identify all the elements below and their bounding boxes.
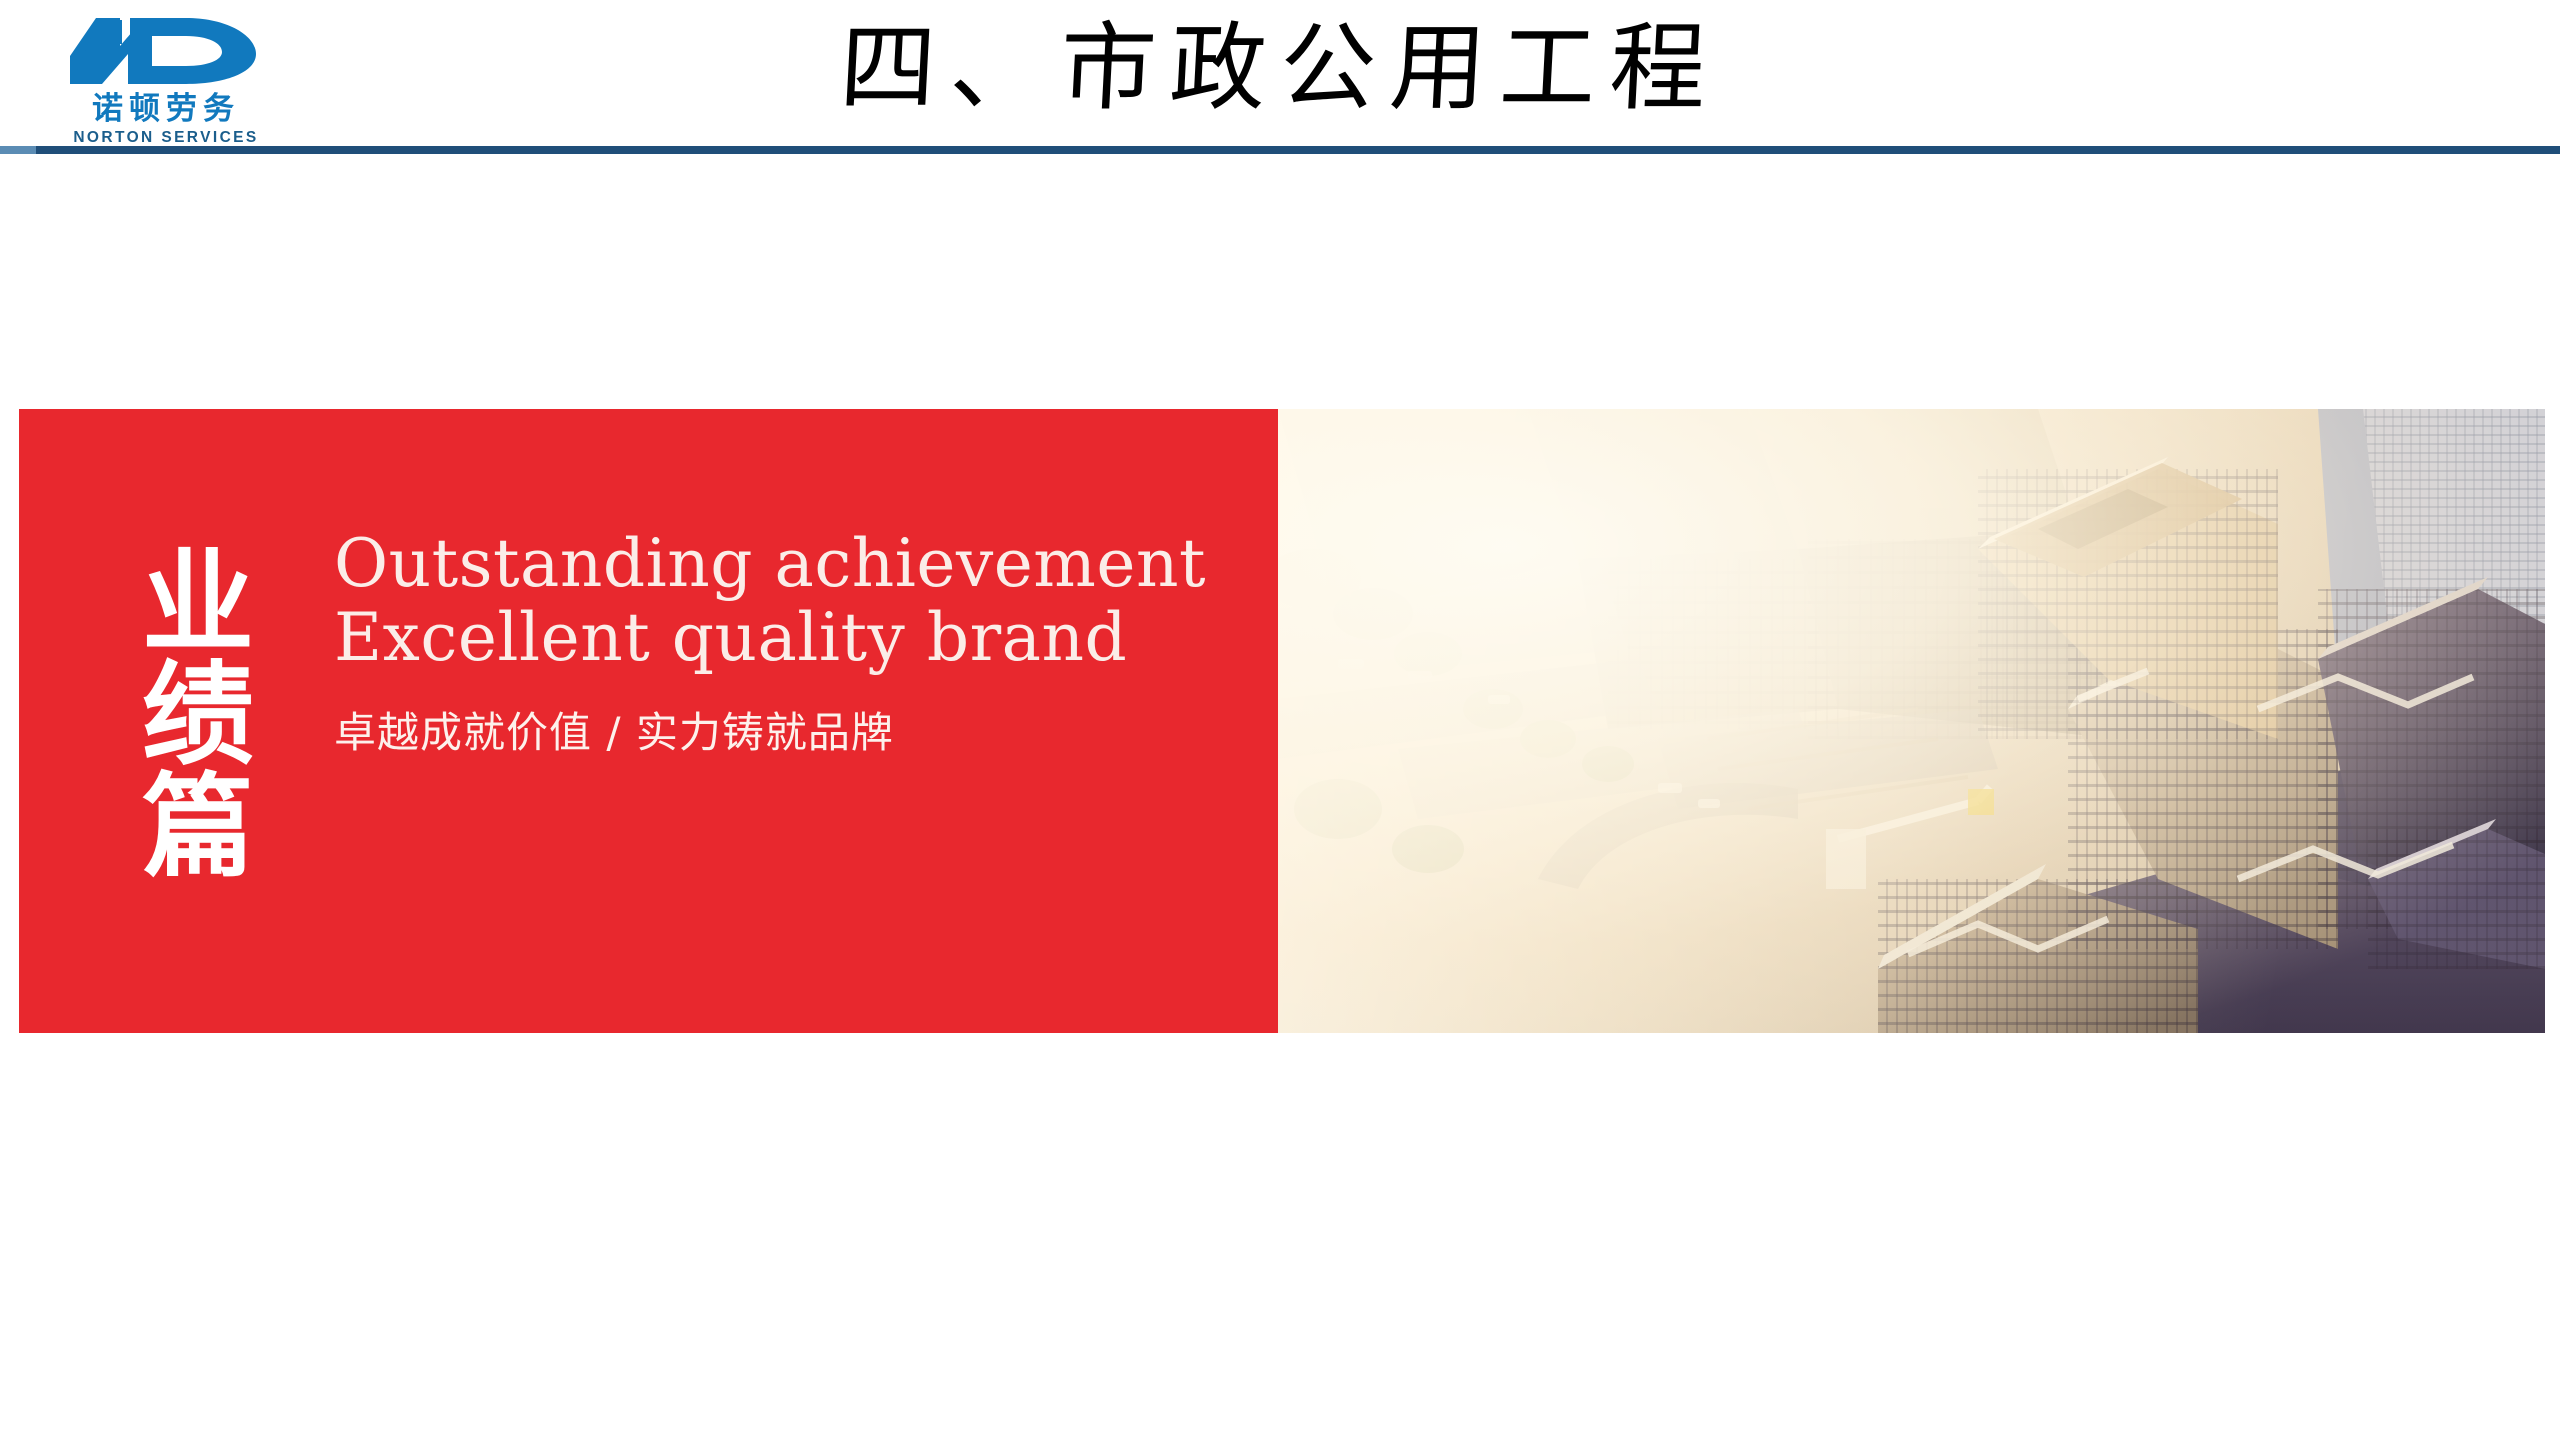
logo-company-name-en: NORTON SERVICES — [64, 130, 268, 146]
construction-photo — [1278, 409, 2545, 1033]
banner-english-line-2: Excellent quality brand — [334, 601, 1234, 675]
banner-vertical-headline: 业绩篇 — [137, 461, 263, 961]
banner-english-line-1: Outstanding achievement — [334, 527, 1234, 601]
banner-chinese-tagline: 卓越成就价值 / 实力铸就品牌 — [334, 707, 1234, 759]
achievement-banner: 业绩篇 Outstanding achievement Excellent qu… — [19, 409, 2545, 1033]
banner-copy-block: Outstanding achievement Excellent qualit… — [334, 527, 1234, 759]
page-title: 四、市政公用工程 — [0, 8, 2560, 128]
slide-header: 诺顿劳务 NORTON SERVICES 四、市政公用工程 — [0, 0, 2560, 160]
header-divider — [0, 146, 2560, 154]
red-panel: 业绩篇 Outstanding achievement Excellent qu… — [19, 409, 1278, 1033]
presentation-slide: 诺顿劳务 NORTON SERVICES 四、市政公用工程 — [0, 0, 2560, 1440]
